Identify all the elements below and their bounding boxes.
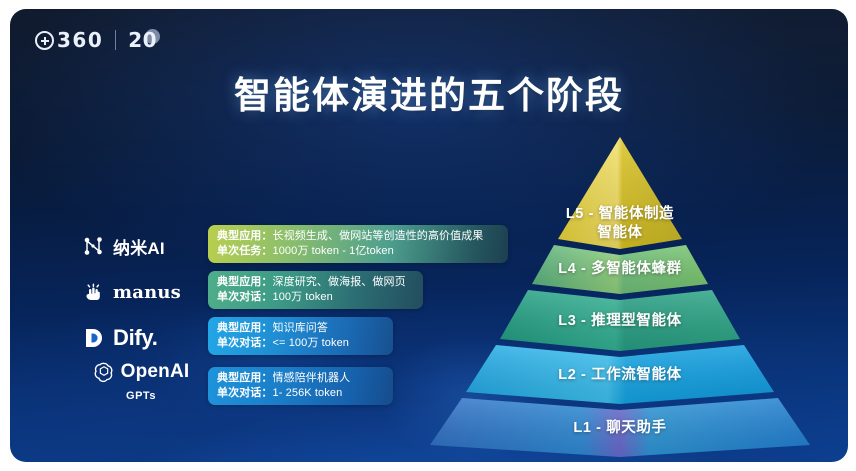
product-badge: 典型应用：深度研究、做海报、做网页 单次对话：100万 token: [208, 271, 423, 309]
badge-key: 典型应用：: [217, 276, 273, 288]
product-badge: 典型应用：知识库问答 单次对话：<= 100万 token: [208, 317, 393, 355]
product-name: OpenAI: [121, 361, 190, 383]
badge-line-2: 单次对话：1- 256K token: [217, 386, 383, 401]
badge-line-2: 单次对话：100万 token: [217, 290, 413, 305]
logo-360-text: 360: [57, 30, 103, 50]
pyramid-level-l3: [500, 290, 740, 351]
badge-line-1: 典型应用：知识库问答: [217, 321, 383, 336]
nano-ai-network-icon: [82, 234, 106, 258]
anniversary-text: 20: [128, 28, 157, 52]
badge-key: 单次对话：: [217, 291, 273, 303]
badge-key: 单次任务：: [217, 245, 273, 257]
product-logo-openai: OpenAI GPTs: [82, 361, 200, 413]
product-logo-manus: manus: [82, 269, 200, 315]
product-badge: 典型应用：情感陪伴机器人 单次对话：1- 256K token: [208, 367, 393, 405]
presentation-slide: 360 20 智能体演进的五个阶段: [10, 9, 848, 462]
product-sub-name: GPTs: [126, 390, 156, 402]
plus-circle-icon: [35, 31, 54, 50]
product-name: manus: [113, 282, 181, 303]
badge-key: 典型应用：: [217, 230, 273, 242]
badge-value: 知识库问答: [273, 322, 329, 334]
badge-key: 单次对话：: [217, 387, 273, 399]
pyramid-level-l5: [558, 137, 682, 249]
pyramid-svg: [420, 127, 840, 457]
product-logo-nano-ai: 纳米AI: [82, 223, 200, 269]
brand-bar: 360 20: [35, 25, 157, 55]
badge-value: 100万 token: [273, 291, 333, 303]
logo-anniversary: 20: [128, 30, 157, 50]
product-logo-dify: Dify.: [82, 315, 200, 361]
badge-value: <= 100万 token: [273, 337, 350, 349]
brand-divider: [115, 30, 116, 50]
badge-line-2: 单次对话：<= 100万 token: [217, 336, 383, 351]
pyramid-level-l2: [466, 345, 774, 404]
badge-line-1: 典型应用：情感陪伴机器人: [217, 371, 383, 386]
openai-knot-icon: [93, 361, 115, 383]
pyramid-chart: L5 - 智能体制造 智能体 L4 - 多智能体蜂群 L3 - 推理型智能体 L…: [420, 127, 840, 457]
pyramid-level-l1: [430, 398, 810, 457]
badge-value: 1- 256K token: [273, 387, 343, 399]
openai-logo-row: OpenAI: [93, 361, 190, 383]
badge-line-1: 典型应用：深度研究、做海报、做网页: [217, 275, 413, 290]
slide-canvas: 360 20 智能体演进的五个阶段: [0, 0, 856, 471]
badge-value: 深度研究、做海报、做网页: [273, 276, 406, 288]
logo-360: 360: [35, 30, 103, 50]
badge-key: 典型应用：: [217, 322, 273, 334]
page-title: 智能体演进的五个阶段: [10, 65, 848, 119]
badge-key: 典型应用：: [217, 372, 273, 384]
badge-value: 情感陪伴机器人: [273, 372, 351, 384]
product-name: Dify.: [113, 325, 158, 351]
badge-value: 1000万 token - 1亿token: [273, 245, 394, 257]
pyramid-level-l4: [532, 245, 708, 294]
badge-key: 单次对话：: [217, 337, 273, 349]
dify-d-icon: [82, 326, 106, 350]
manus-hand-icon: [82, 280, 106, 304]
product-name: 纳米AI: [113, 234, 165, 259]
